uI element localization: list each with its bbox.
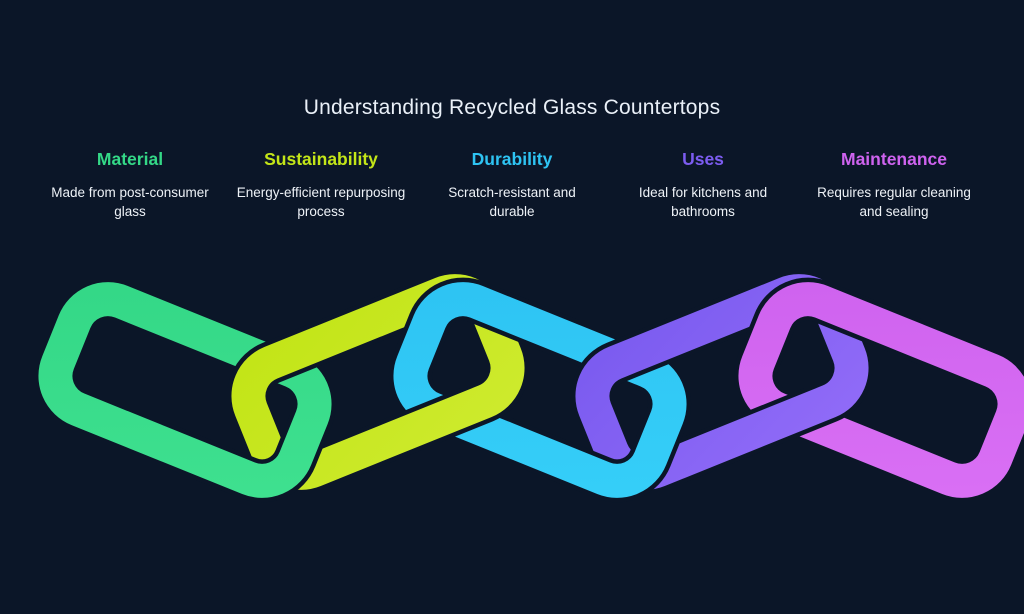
column-desc-material: Made from post-consumer glass [42,183,218,221]
column-uses: Uses Ideal for kitchens and bathrooms [615,148,791,221]
column-desc-sustainability: Energy-efficient repurposing process [233,183,409,221]
page-title: Understanding Recycled Glass Countertops [0,96,1024,120]
column-material: Material Made from post-consumer glass [42,148,218,221]
column-desc-maintenance: Requires regular cleaning and sealing [806,183,982,221]
column-desc-durability: Scratch-resistant and durable [424,183,600,221]
column-desc-uses: Ideal for kitchens and bathrooms [615,183,791,221]
column-title-uses: Uses [615,148,791,170]
column-title-material: Material [42,148,218,170]
column-maintenance: Maintenance Requires regular cleaning an… [806,148,982,221]
column-durability: Durability Scratch-resistant and durable [424,148,600,221]
chain-links-svg [0,272,1024,512]
column-title-sustainability: Sustainability [233,148,409,170]
column-title-durability: Durability [424,148,600,170]
column-title-maintenance: Maintenance [806,148,982,170]
infographic-canvas: Understanding Recycled Glass Countertops… [0,0,1024,614]
feature-columns: Material Made from post-consumer glass S… [42,148,982,221]
column-sustainability: Sustainability Energy-efficient repurpos… [233,148,409,221]
chain-graphic [0,272,1024,512]
